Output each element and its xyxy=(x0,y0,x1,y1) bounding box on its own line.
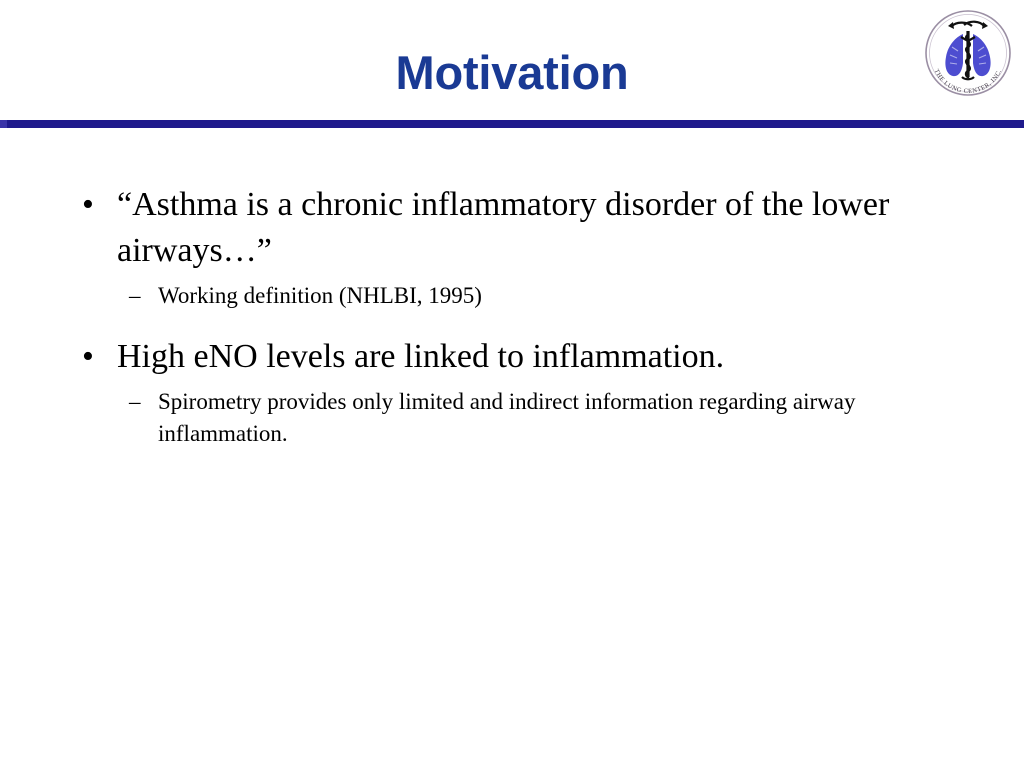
title-divider-edge-highlight xyxy=(0,120,7,128)
presentation-slide: Motivation xyxy=(0,0,1024,768)
bullet-level2-working-definition: – Working definition (NHLBI, 1995) xyxy=(0,280,1024,312)
bullet-level1-text: “Asthma is a chronic inflammatory disord… xyxy=(117,186,889,269)
bullet-dot-icon: • xyxy=(82,334,106,380)
page-title: Motivation xyxy=(396,48,629,97)
bullet-dash-icon: – xyxy=(129,280,153,312)
bullet-dot-icon: • xyxy=(82,182,106,228)
title-divider-rule xyxy=(0,120,1024,128)
bullet-dash-icon: – xyxy=(129,386,153,418)
slide-body-content: • “Asthma is a chronic inflammatory diso… xyxy=(0,182,1024,460)
bullet-level2-text: Spirometry provides only limited and ind… xyxy=(158,389,856,446)
the-lung-center-logo: THE LUNG CENTER, INC. xyxy=(922,7,1014,99)
bullet-level1-eno-levels: • High eNO levels are linked to inflamma… xyxy=(0,334,1024,380)
spacer xyxy=(0,322,1024,334)
bullet-level2-spirometry: – Spirometry provides only limited and i… xyxy=(0,386,1024,450)
slide-title-area: Motivation xyxy=(0,34,1024,112)
bullet-level1-text: High eNO levels are linked to inflammati… xyxy=(117,338,724,375)
bullet-level2-text: Working definition (NHLBI, 1995) xyxy=(158,283,482,308)
bullet-level1-asthma-quote: • “Asthma is a chronic inflammatory diso… xyxy=(0,182,1024,274)
